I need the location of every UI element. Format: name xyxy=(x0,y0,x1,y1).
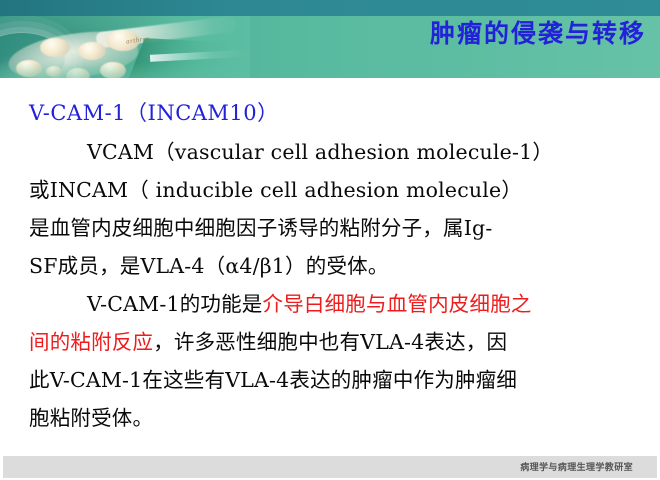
paragraph-two: V-CAM-1的功能是介导白细胞与血管内皮细胞之 间的粘附反应，许多恶性细胞中也… xyxy=(29,285,645,437)
section-subheading: V-CAM-1（INCAM10） xyxy=(29,97,279,127)
slide-header-banner: arthrex 肿瘤的侵袭与转移 xyxy=(0,0,660,78)
header-top-stripe xyxy=(0,0,660,16)
slide-content: V-CAM-1（INCAM10） VCAM（vascular cell adhe… xyxy=(0,78,660,455)
line-text-black-2: ，许多恶性细胞中也有VLA-4表达，因 xyxy=(153,330,507,354)
presentation-slide: arthrex 肿瘤的侵袭与转移 V-CAM-1（INCAM10） VCAM（v… xyxy=(0,0,660,480)
highlighted-text-part-1: 介导白细胞与血管内皮细胞之 xyxy=(263,292,532,316)
line-text: VCAM（vascular cell adhesion molecule-1） xyxy=(87,140,553,164)
paragraph-two-line-1: V-CAM-1的功能是介导白细胞与血管内皮细胞之 xyxy=(29,285,645,323)
highlighted-text-part-2: 间的粘附反应 xyxy=(29,330,153,354)
slide-title: 肿瘤的侵袭与转移 xyxy=(430,21,646,46)
paragraph-one-line-4: SF成员，是VLA-4（α4/β1）的受体。 xyxy=(29,247,645,285)
paragraph-two-line-2: 间的粘附反应，许多恶性细胞中也有VLA-4表达，因 xyxy=(29,323,645,361)
paragraph-one-line-2: 或INCAM（ inducible cell adhesion molecule… xyxy=(29,171,645,209)
slide-footer: 病理学与病理生理学教研室 xyxy=(3,456,657,478)
paragraph-one-line-3: 是血管内皮细胞中细胞因子诱导的粘附分子，属Ig- xyxy=(29,209,645,247)
surgical-lamp-photo: arthrex xyxy=(0,16,250,78)
line-text-black: V-CAM-1的功能是 xyxy=(87,292,263,316)
paragraph-two-line-3: 此V-CAM-1在这些有VLA-4表达的肿瘤中作为肿瘤细 xyxy=(29,361,645,399)
paragraph-one-line-1: VCAM（vascular cell adhesion molecule-1） xyxy=(29,133,645,171)
photo-edge-fade-vertical xyxy=(0,16,250,78)
paragraph-one: VCAM（vascular cell adhesion molecule-1） … xyxy=(29,133,645,285)
paragraph-two-line-4: 胞粘附受体。 xyxy=(29,399,645,437)
footer-department-label: 病理学与病理生理学教研室 xyxy=(520,460,633,473)
